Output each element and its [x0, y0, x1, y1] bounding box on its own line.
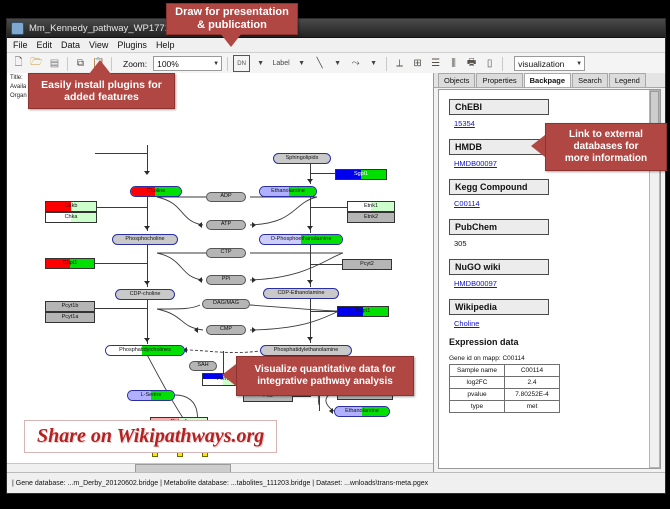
distribute-icon[interactable]: ⫼	[446, 56, 461, 71]
arrow-icon	[252, 327, 256, 333]
node-label: Chka	[65, 215, 78, 221]
table-cell-label: log2FC	[450, 377, 505, 389]
node-label: Pcyt1b	[62, 304, 79, 310]
node-label: Cept1	[356, 309, 371, 315]
tab-objects[interactable]: Objects	[438, 73, 475, 87]
node-cdp-ethanolamine[interactable]: CDP-Ethanolamine	[263, 288, 339, 299]
share-text: Share on Wikipathways.org	[37, 425, 264, 447]
group-icon[interactable]: ⊞	[410, 56, 425, 71]
gene-pcyt2[interactable]: Pcyt2	[342, 259, 392, 270]
table-cell-label: pvalue	[450, 389, 505, 401]
db-header-kegg-compound: Kegg Compound	[449, 179, 549, 195]
arrow-icon	[198, 222, 202, 228]
gene-sgpl1[interactable]: Sgpl1	[335, 169, 387, 180]
node-phosphatidylcholines[interactable]: Phosphatidylcholines	[105, 345, 185, 356]
callout-text: Draw for presentation & publication	[175, 6, 289, 32]
callout-text: Link to external databases for more info…	[565, 129, 647, 164]
arrow-icon	[307, 179, 313, 183]
line-icon[interactable]: ╲	[312, 56, 327, 71]
new-file-icon[interactable]: 🗋	[11, 56, 26, 71]
node-label: Sgpl1	[354, 172, 368, 178]
node-label: Pcyt1a	[62, 315, 79, 321]
node-label: CMP	[220, 327, 232, 333]
chevron-down-icon: ▼	[213, 61, 219, 67]
node-ethanolamine-top[interactable]: Ethanolamine	[259, 186, 317, 197]
node-choline-top[interactable]: Choline	[130, 186, 182, 197]
menu-item-view[interactable]: View	[89, 40, 108, 50]
toolbar-separator	[111, 57, 112, 71]
pathway-canvas[interactable]: Title: Availa Organ	[7, 73, 434, 473]
gene-etnk2[interactable]: Etnk2	[347, 212, 395, 223]
align-icon[interactable]: ⟂	[392, 56, 407, 71]
node-label: Chpt1	[63, 261, 78, 267]
callout-visualize: Visualize quantitative data for integrat…	[236, 356, 414, 396]
node-adp[interactable]: ADP	[206, 192, 246, 202]
callout-text: Visualize quantitative data for integrat…	[255, 364, 396, 388]
stack-icon[interactable]: ☰	[428, 56, 443, 71]
callout-plugins: Easily install plugins for added feature…	[28, 73, 175, 109]
node-label: DAG/MAG	[213, 301, 239, 307]
db-header-pubchem: PubChem	[449, 219, 549, 235]
table-row: type met	[450, 401, 560, 413]
toolbar-separator	[502, 57, 503, 71]
zoom-combo[interactable]: 100% ▼	[153, 56, 222, 71]
node-label: ADP	[220, 194, 231, 200]
callout-pointer-left	[531, 135, 545, 157]
side-panel-tabs: Objects Properties Backpage Search Legen…	[434, 73, 665, 88]
table-cell-value: C00114	[505, 365, 560, 377]
status-bar: | Gene database: ...m_Derby_20120602.bri…	[7, 472, 665, 493]
arrow-icon	[198, 277, 202, 283]
chevron-down-icon: ▼	[576, 61, 582, 67]
gene-cept1[interactable]: Cept1	[337, 306, 389, 317]
edge	[310, 264, 343, 265]
arrow-icon	[252, 277, 256, 283]
menu-bar: File Edit Data View Plugins Help	[7, 38, 665, 53]
node-sah[interactable]: SAH	[189, 361, 217, 371]
gene-chkb[interactable]: Chkb	[45, 201, 97, 212]
node-label: Phosphocholine	[125, 237, 164, 243]
edge	[293, 396, 311, 397]
menu-item-file[interactable]: File	[13, 40, 28, 50]
arrow-icon	[194, 327, 198, 333]
node-label: Sphingolipids	[286, 156, 319, 162]
datanode-icon[interactable]: DN	[233, 55, 250, 72]
db-header-chebi: ChEBI	[449, 99, 549, 115]
label-dropdown-icon[interactable]: ▼	[294, 56, 309, 71]
menu-item-data[interactable]: Data	[61, 40, 80, 50]
line-dropdown-icon[interactable]: ▼	[330, 56, 345, 71]
callout-share: Share on Wikipathways.org	[24, 420, 277, 453]
tab-properties[interactable]: Properties	[476, 73, 522, 87]
table-row: pvalue 7.80252E-4	[450, 389, 560, 401]
gene-chpt1[interactable]: Chpt1	[45, 258, 95, 269]
tab-search[interactable]: Search	[572, 73, 608, 87]
tab-backpage[interactable]: Backpage	[524, 73, 571, 87]
node-label: CDP-Ethanolamine	[277, 291, 324, 297]
visualization-value: visualization	[518, 59, 564, 69]
menu-item-edit[interactable]: Edit	[37, 40, 53, 50]
arrow-icon	[252, 222, 256, 228]
edge	[310, 173, 336, 174]
gene-pcyt1b[interactable]: Pcyt1b	[45, 301, 95, 312]
db-link-nugo-wiki[interactable]: HMDB00097	[454, 279, 660, 288]
menu-item-help[interactable]: Help	[156, 40, 175, 50]
table-cell-value: met	[505, 401, 560, 413]
gene-etnk1[interactable]: Etnk1	[347, 201, 395, 212]
table-cell-label: type	[450, 401, 505, 413]
copy-icon[interactable]: ⧉	[73, 56, 88, 71]
arrow-icon	[307, 280, 313, 284]
interaction-dropdown-icon[interactable]: ▼	[366, 56, 381, 71]
node-ethanolamine-right[interactable]: Ethanolamine	[334, 406, 390, 417]
node-label: ATP	[221, 222, 231, 228]
node-label: Ethanolamine	[345, 409, 379, 415]
node-l-serine-left[interactable]: L-Serine	[127, 390, 175, 401]
pathway-drawing: Title: Availa Organ	[7, 73, 433, 473]
node-label: Choline	[147, 189, 166, 195]
toolbar-separator	[386, 57, 387, 71]
table-cell-label: Sample name	[450, 365, 505, 377]
visualization-combo[interactable]: visualization ▼	[514, 56, 585, 71]
status-text: | Gene database: ...m_Derby_20120602.bri…	[12, 480, 428, 487]
zoom-label: Zoom:	[123, 59, 147, 69]
node-label: Pcyt2	[360, 262, 374, 268]
node-phosphocholine[interactable]: Phosphocholine	[112, 234, 178, 245]
arrow-icon	[329, 408, 333, 414]
gene-id-on-mapp: Gene id on mapp: C00114	[449, 355, 660, 362]
expression-data-heading: Expression data	[449, 337, 660, 347]
db-header-wikipedia: Wikipedia	[449, 299, 549, 315]
label-icon[interactable]: Label	[271, 56, 291, 71]
db-link-kegg-compound[interactable]: C00114	[454, 199, 660, 208]
arrow-icon	[307, 337, 313, 341]
callout-text: Easily install plugins for added feature…	[41, 79, 162, 104]
node-label: Chkb	[65, 204, 78, 210]
gene-pcyt1a[interactable]: Pcyt1a	[45, 312, 95, 323]
node-ctp[interactable]: CTP	[206, 248, 246, 258]
node-label: SAH	[197, 363, 208, 369]
save-icon[interactable]: ▤	[47, 56, 62, 71]
properties-icon[interactable]: ▯	[482, 56, 497, 71]
node-label: O-Phosphoethanolamine	[271, 237, 332, 243]
arrow-icon	[307, 226, 313, 230]
edge	[310, 311, 338, 312]
callout-pointer-left	[222, 364, 236, 386]
table-row: log2FC 2.4	[450, 377, 560, 389]
edge	[310, 207, 348, 208]
callout-draw: Draw for presentation & publication	[166, 3, 298, 35]
screenshot-root: Mm_Kennedy_pathway_WP1771_45176.gpml Fil…	[0, 0, 670, 509]
node-label: Etnk1	[364, 204, 378, 210]
node-label: PPi	[222, 277, 231, 283]
node-sphingolipids[interactable]: Sphingolipids	[273, 153, 331, 164]
node-ppi[interactable]: PPi	[206, 275, 246, 285]
node-label: Phosphatidylcholines	[119, 348, 171, 354]
expression-table: Sample name C00114 log2FC 2.4 pvalue 7.8…	[449, 364, 560, 413]
datanode-dropdown-icon[interactable]: ▼	[253, 56, 268, 71]
db-value-pubchem: 305	[454, 239, 660, 248]
callout-pointer-down	[220, 33, 242, 47]
toolbar-separator	[67, 57, 68, 71]
print-icon[interactable]: 🖶	[464, 56, 479, 71]
node-cmp[interactable]: CMP	[206, 325, 246, 335]
node-o-phosphoethanolamine[interactable]: O-Phosphoethanolamine	[259, 234, 343, 245]
zoom-value: 100%	[157, 59, 179, 69]
node-label: L-Serine	[141, 393, 162, 399]
node-atp[interactable]: ATP	[206, 220, 246, 230]
toolbar-separator	[227, 57, 228, 71]
tab-legend[interactable]: Legend	[609, 73, 646, 87]
db-link-wikipedia[interactable]: Choline	[454, 319, 660, 328]
table-cell-value: 7.80252E-4	[505, 389, 560, 401]
db-header-nugo-wiki: NuGO wiki	[449, 259, 549, 275]
node-cdp-choline[interactable]: CDP-choline	[115, 289, 175, 300]
node-label: CDP-choline	[130, 292, 161, 298]
node-phosphatidylethanolamine[interactable]: Phosphatidylethanolamine	[260, 345, 352, 356]
callout-pointer-up	[89, 60, 111, 74]
interaction-icon[interactable]: ⤳	[348, 56, 363, 71]
gene-chka[interactable]: Chka	[45, 212, 97, 223]
table-row: Sample name C00114	[450, 365, 560, 377]
menu-item-plugins[interactable]: Plugins	[117, 40, 147, 50]
node-dag-mag[interactable]: DAG/MAG	[202, 299, 250, 309]
node-label: Etnk2	[364, 215, 378, 221]
table-cell-value: 2.4	[505, 377, 560, 389]
node-label: CTP	[221, 250, 232, 256]
node-label: Ethanolamine	[271, 189, 305, 195]
callout-link: Link to external databases for more info…	[545, 123, 667, 171]
open-folder-icon[interactable]: 🗁	[29, 56, 44, 71]
title-bar: Mm_Kennedy_pathway_WP1771_45176.gpml	[7, 19, 665, 38]
application-icon	[11, 22, 24, 35]
node-label: Phosphatidylethanolamine	[274, 348, 339, 354]
